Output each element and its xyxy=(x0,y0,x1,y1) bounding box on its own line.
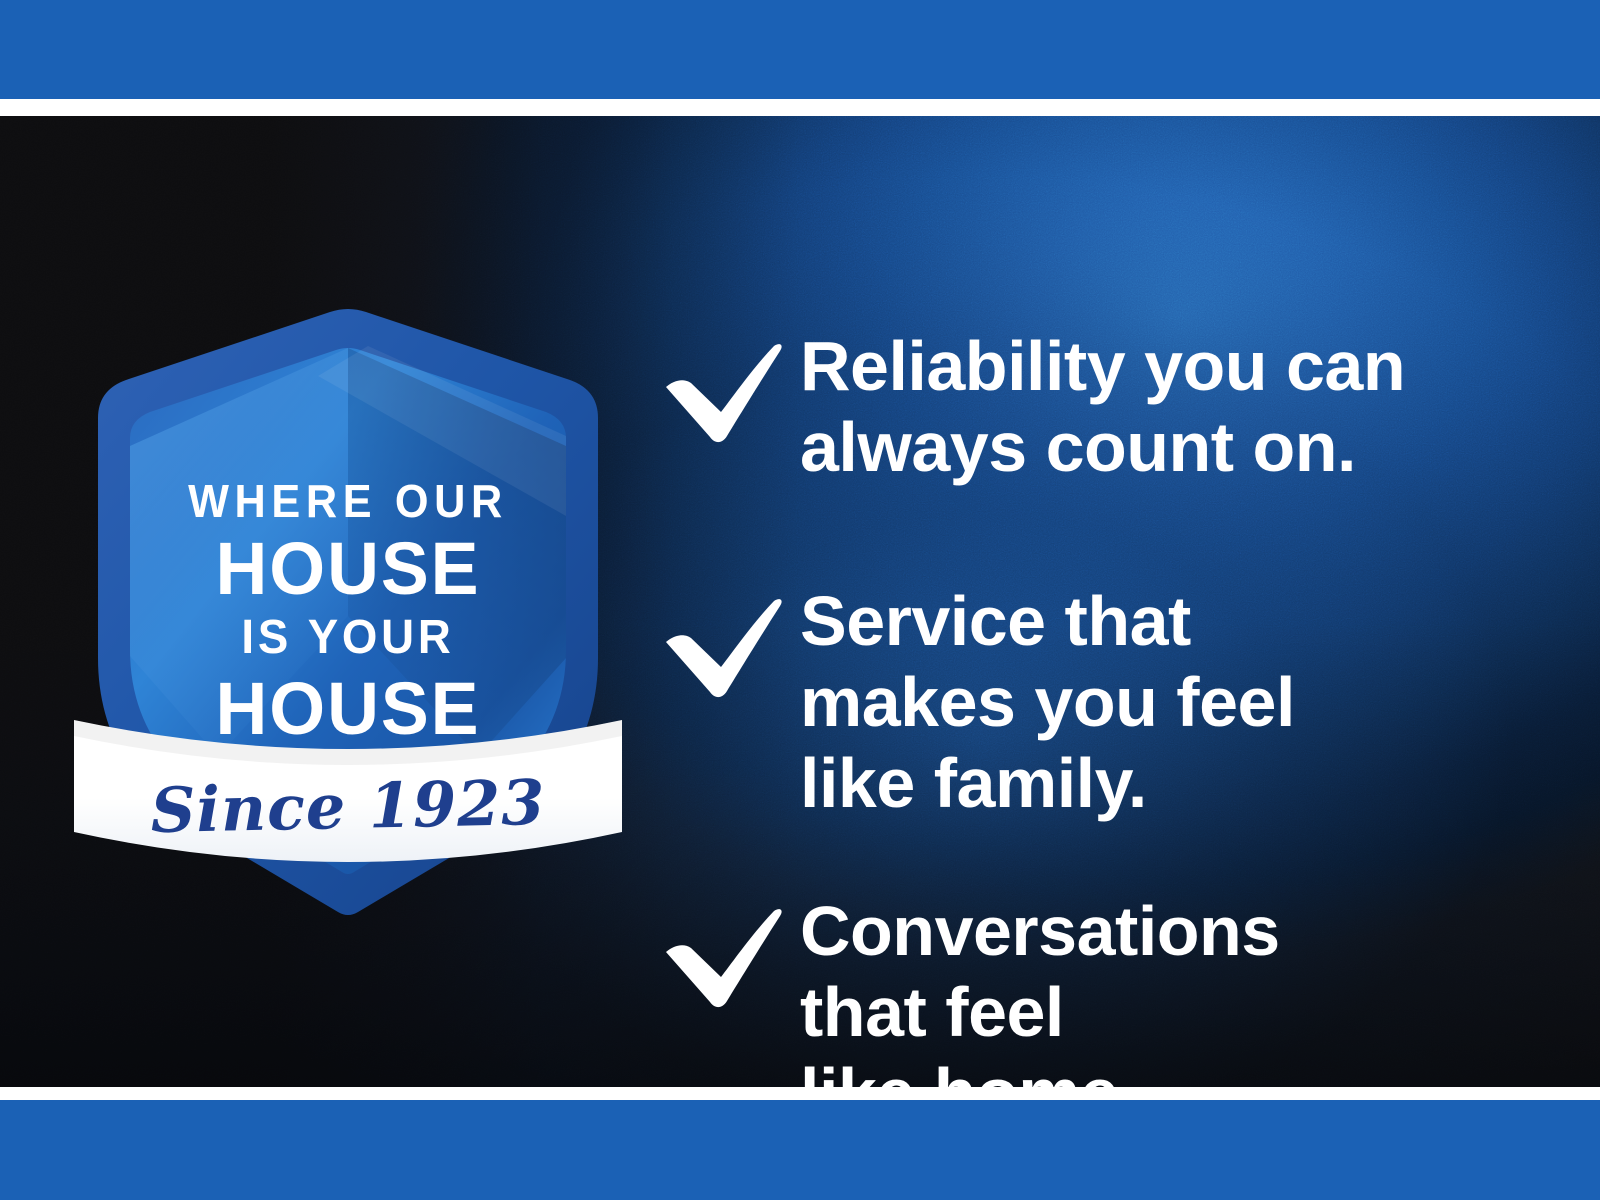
list-item-line: makes you feel xyxy=(800,662,1540,743)
list-item-line: Conversations xyxy=(800,891,1540,972)
check-icon xyxy=(660,326,800,444)
list-item-line: Reliability you can xyxy=(800,326,1540,407)
promo-graphic: Where Our House Is Your House Since 1923… xyxy=(0,0,1600,1200)
list-item-line: that feel xyxy=(800,972,1540,1053)
badge-line-2: House xyxy=(76,532,619,606)
list-item-text: Conversations that feel like home. xyxy=(800,891,1540,1087)
badge-line-4: House xyxy=(76,672,619,746)
bottom-white-divider xyxy=(0,1087,1600,1100)
list-item-text: Service that makes you feel like family. xyxy=(800,581,1540,825)
check-icon xyxy=(660,581,800,699)
badge-line-1: Where Our xyxy=(85,478,611,524)
list-item-line: Service that xyxy=(800,581,1540,662)
shield-badge: Where Our House Is Your House Since 1923 xyxy=(68,286,628,926)
badge-since-text: Since 1923 xyxy=(67,770,628,844)
check-icon xyxy=(660,891,800,1009)
top-brand-bar xyxy=(0,0,1600,99)
list-item: Reliability you can always count on. xyxy=(660,326,1540,488)
list-item: Conversations that feel like home. xyxy=(660,891,1540,1087)
badge-line-3: Is Your xyxy=(82,614,614,662)
list-item: Service that makes you feel like family. xyxy=(660,581,1540,825)
list-item-line: always count on. xyxy=(800,407,1540,488)
list-item-line: like home. xyxy=(800,1053,1540,1087)
list-item-line: like family. xyxy=(800,743,1540,824)
top-white-divider xyxy=(0,99,1600,116)
main-panel: Where Our House Is Your House Since 1923… xyxy=(0,116,1600,1087)
bottom-brand-bar xyxy=(0,1100,1600,1200)
list-item-text: Reliability you can always count on. xyxy=(800,326,1540,488)
